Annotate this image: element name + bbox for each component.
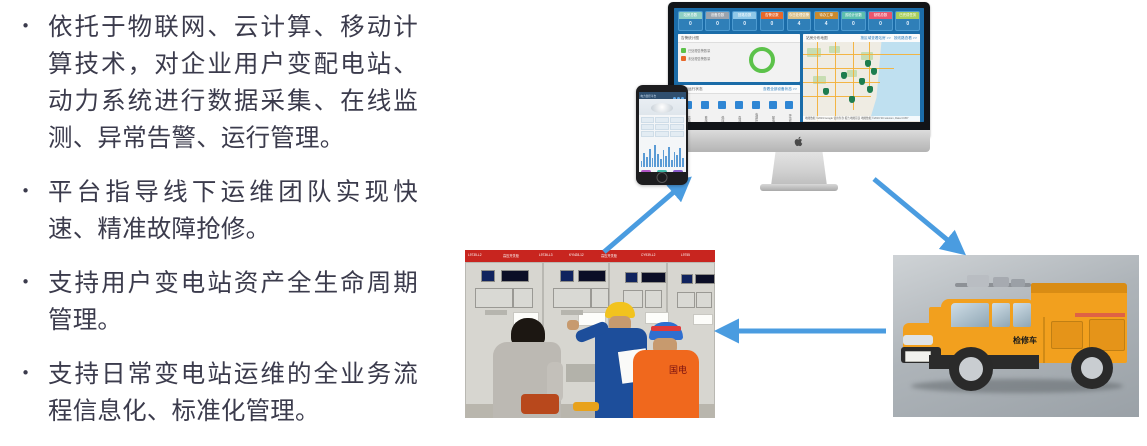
stat-card-label: 告警总数	[761, 12, 784, 19]
cabinet-label: KYN28-12	[569, 253, 584, 257]
phone-app-title: 电力监控平台	[641, 94, 657, 98]
panel-title: 设备运行状态 查看全部设备状态 >>	[678, 85, 800, 94]
box-seam	[1043, 317, 1045, 363]
uniform-back-text: 国电	[669, 366, 691, 388]
chart-legend: 已处理告警数量 未处理告警数量	[681, 48, 710, 64]
device-icon	[769, 101, 777, 109]
desktop-monitor: 站房总数0设备总数0回路总数0告警总数0今日处理告警4待办工单4巡检计划数0缺陷…	[668, 2, 930, 202]
monitor-stand-neck	[771, 152, 827, 186]
map-attribution: 地图数据 ©2019 Google 使用条款 报告地图错误 地图数据 ©2019…	[803, 116, 920, 121]
switch-bank	[561, 310, 583, 315]
phone-data-table	[639, 115, 686, 140]
map-canvas[interactable]: 地图数据 ©2019 Google 使用条款 报告地图错误 地图数据 ©2019…	[803, 42, 920, 121]
stat-card-row: 站房总数0设备总数0回路总数0告警总数0今日处理告警4待办工单4巡检计划数0缺陷…	[678, 11, 920, 31]
station-map-panel[interactable]: 站房分布地图 按线路查看 >> 按区域查看站房 >>	[803, 34, 920, 122]
device-status-item[interactable]: 直流屏	[733, 101, 744, 122]
reflective-stripe	[1075, 313, 1125, 317]
stat-card-value: 0	[842, 19, 865, 30]
protection-relay-panel	[677, 292, 695, 308]
table-cell	[655, 131, 669, 137]
cabinet-vent	[566, 364, 596, 382]
arrow-monitor-to-truck	[870, 175, 966, 257]
phone-bar	[641, 161, 643, 167]
map-road	[803, 54, 920, 55]
cabinet-label: L9736-L3	[539, 253, 552, 257]
stat-card-value: 0	[896, 19, 919, 30]
bullet-marker: •	[0, 173, 30, 210]
legend-item: 已处理告警数量	[681, 48, 710, 53]
led-readout	[578, 270, 606, 282]
donut-chart-area: 已处理告警数量 未处理告警数量	[678, 43, 800, 82]
table-cell	[670, 117, 684, 123]
bullet-text: 依托于物联网、云计算、移动计算技术，对企业用户变配电站、动力系统进行数据采集、在…	[48, 8, 418, 156]
device-icon	[718, 101, 726, 109]
rear-hubcap	[1081, 357, 1103, 379]
map-road	[803, 96, 871, 97]
photo-substation-operations: L9735-L2 高压开关柜 L9736-L3 KYN28-12 高压开关柜 C…	[465, 250, 715, 418]
phone-bar	[679, 148, 681, 167]
bullet-marker: •	[0, 264, 30, 301]
phone-bar	[676, 155, 678, 167]
device-status-item[interactable]: 变压器	[700, 101, 711, 122]
digital-meter-display	[681, 274, 693, 284]
device-icon	[735, 101, 743, 109]
phone-bar	[671, 160, 673, 167]
app-tile-1[interactable]	[641, 170, 651, 172]
switch-bank	[485, 310, 507, 315]
map-marker-station[interactable]	[865, 60, 871, 67]
panel-title-text: 站房分布地图	[806, 36, 828, 40]
phone-gauge-widget	[639, 99, 686, 115]
table-cell	[641, 124, 655, 130]
control-module	[696, 292, 712, 308]
phone-bar	[682, 158, 684, 167]
protection-relay-panel	[553, 288, 591, 308]
tool-case	[573, 402, 599, 411]
map-road	[869, 42, 870, 93]
map-marker-station[interactable]	[849, 96, 855, 103]
vehicle-door-text: 检修车	[1013, 335, 1037, 346]
front-hubcap	[959, 357, 983, 381]
headlight	[903, 335, 933, 345]
digital-meter-display	[560, 270, 574, 282]
stat-card-label: 回路总数	[733, 12, 756, 19]
roof-equipment	[993, 277, 1009, 287]
map-marker-station[interactable]	[867, 86, 873, 93]
license-plate	[905, 351, 931, 362]
stat-card-label: 设备总数	[706, 12, 729, 19]
storage-compartment	[1051, 321, 1083, 349]
led-readout	[501, 270, 529, 282]
stat-card[interactable]: 待办工单4	[814, 11, 839, 31]
stat-card-value: 0	[733, 19, 756, 30]
arrow-substation-to-monitor	[600, 178, 690, 256]
legend-item: 未处理告警数量	[681, 56, 710, 61]
control-module	[513, 288, 533, 308]
cabinet-label: L9735-L2	[468, 253, 481, 257]
phone-bar	[665, 156, 667, 167]
stat-card[interactable]: 缺陷总数0	[868, 11, 893, 31]
dashboard: 站房总数0设备总数0回路总数0告警总数0今日处理告警4待办工单4巡检计划数0缺陷…	[674, 8, 924, 122]
list-item: • 平台指导线下运维团队实现快速、精准故障抢修。	[0, 173, 455, 247]
hand	[567, 320, 579, 330]
app-tile-3[interactable]	[673, 170, 683, 172]
bullet-text: 支持用户变电站资产全生命周期管理。	[48, 264, 418, 338]
phone-bar	[674, 152, 676, 167]
bullet-marker: •	[0, 355, 30, 392]
device-icon	[785, 101, 793, 109]
map-marker-station[interactable]	[859, 78, 865, 85]
phone-bar	[652, 158, 654, 167]
protection-relay-panel	[475, 288, 513, 308]
device-label: 环境监测	[788, 110, 792, 122]
legend-label: 已处理告警数量	[688, 48, 710, 53]
map-marker-station[interactable]	[871, 68, 877, 75]
list-item: • 支持用户变电站资产全生命周期管理。	[0, 264, 455, 338]
roof-equipment	[967, 275, 989, 287]
digital-meter-display	[481, 270, 495, 282]
phone-bar	[654, 145, 656, 167]
device-status-item[interactable]: 配电箱	[767, 101, 778, 122]
led-readout	[695, 274, 715, 284]
stat-card-value: 4	[788, 19, 811, 30]
table-cell	[670, 131, 684, 137]
stat-card-label: 巡检计划数	[842, 12, 865, 19]
device-icon	[701, 101, 709, 109]
left-panel-column: 告警统计图 已处理告警数量	[678, 34, 800, 122]
stat-card-label: 缺陷总数	[869, 12, 892, 19]
list-item: • 依托于物联网、云计算、移动计算技术，对企业用户变配电站、动力系统进行数据采集…	[0, 8, 455, 156]
map-road	[817, 42, 818, 121]
table-cell	[641, 117, 655, 123]
stat-card[interactable]: 回路总数0	[732, 11, 757, 31]
stat-card-label: 已完成任务	[896, 12, 919, 19]
mobile-phone: 电力监控平台	[636, 85, 688, 185]
device-status-item[interactable]: 低压柜	[717, 101, 728, 122]
stat-card-value: 0	[761, 19, 784, 30]
device-status-panel: 设备运行状态 查看全部设备状态 >> 高压柜变压器低压柜直流屏电容补偿柜配电箱环…	[678, 85, 800, 122]
architecture-diagram: 站房总数0设备总数0回路总数0告警总数0今日处理告警4待办工单4巡检计划数0缺陷…	[450, 0, 1147, 437]
stat-card[interactable]: 已完成任务0	[895, 11, 920, 31]
cabinet-label: 高压开关柜	[503, 253, 519, 258]
device-status-item[interactable]: 电容补偿柜	[750, 101, 761, 122]
monitor-stand-base	[760, 184, 838, 191]
map-green-area	[847, 70, 857, 77]
gauge-dial	[651, 103, 673, 113]
bullet-text: 支持日常变电站运维的全业务流程信息化、标准化管理。	[48, 355, 418, 429]
legend-swatch-handled	[681, 48, 686, 53]
tool-bag	[521, 394, 559, 414]
device-icon-row: 高压柜变压器低压柜直流屏电容补偿柜配电箱环境监测	[678, 94, 800, 122]
photo-maintenance-truck: 检修车	[893, 255, 1139, 417]
table-cell	[670, 124, 684, 130]
phone-bar	[657, 154, 659, 167]
worker-orange-uniform: 国电	[633, 322, 699, 418]
bullet-list: • 依托于物联网、云计算、移动计算技术，对企业用户变配电站、动力系统进行数据采集…	[0, 8, 455, 446]
table-row	[641, 117, 684, 123]
rear-side-window	[1013, 303, 1031, 327]
device-label: 变压器	[703, 110, 707, 122]
donut-ring	[749, 47, 775, 73]
stat-card[interactable]: 设备总数0	[705, 11, 730, 31]
map-road	[835, 42, 836, 121]
device-status-item[interactable]: 环境监测	[784, 101, 795, 122]
device-icon	[752, 101, 760, 109]
map-marker-station[interactable]	[823, 88, 829, 95]
device-label: 低压柜	[720, 110, 724, 122]
phone-bar	[643, 153, 645, 167]
stat-card-label: 待办工单	[815, 12, 838, 19]
bullet-text: 平台指导线下运维团队实现快速、精准故障抢修。	[48, 173, 418, 247]
windshield	[951, 303, 989, 327]
legend-swatch-unhandled	[681, 56, 686, 61]
digital-meter-display	[625, 272, 638, 283]
phone-bar	[649, 149, 651, 167]
device-label: 配电箱	[771, 110, 775, 122]
phone-bar-chart	[639, 140, 686, 168]
phone-screen: 电力监控平台	[639, 92, 686, 172]
phone-bar	[668, 147, 670, 167]
stat-card-label: 站房总数	[679, 12, 702, 19]
device-label: 电容补偿柜	[754, 110, 758, 122]
table-row	[641, 131, 684, 137]
map-green-area	[807, 48, 821, 57]
stat-card[interactable]: 巡检计划数0	[841, 11, 866, 31]
utility-box-roof	[1031, 283, 1127, 293]
stat-card[interactable]: 站房总数0	[678, 11, 703, 31]
phone-home-button[interactable]	[657, 172, 668, 183]
bullet-marker: •	[0, 8, 30, 45]
arrow-truck-to-substation	[718, 322, 890, 340]
panel-more-link[interactable]: 查看全部设备状态 >>	[763, 85, 800, 93]
phone-app-header: 电力监控平台	[639, 92, 686, 99]
legend-label: 未处理告警数量	[688, 56, 710, 61]
stat-card[interactable]: 告警总数0	[760, 11, 785, 31]
device-label: 直流屏	[737, 110, 741, 122]
helmet-stripe	[651, 326, 681, 331]
slide-canvas: • 依托于物联网、云计算、移动计算技术，对企业用户变配电站、动力系统进行数据采集…	[0, 0, 1147, 437]
phone-bar	[660, 159, 662, 167]
apple-logo-icon	[795, 136, 804, 147]
stat-card-value: 0	[679, 19, 702, 30]
table-cell	[655, 124, 669, 130]
table-row	[641, 124, 684, 130]
stat-card[interactable]: 今日处理告警4	[787, 11, 812, 31]
phone-bar	[663, 150, 665, 167]
phone-bar	[646, 157, 648, 167]
front-side-window	[992, 303, 1010, 327]
alarm-statistics-panel: 告警统计图 已处理告警数量	[678, 34, 800, 82]
led-readout	[641, 272, 666, 283]
dashboard-panels: 告警统计图 已处理告警数量	[678, 34, 920, 122]
stat-card-value: 0	[869, 19, 892, 30]
monitor-screen: 站房总数0设备总数0回路总数0告警总数0今日处理告警4待办工单4巡检计划数0缺陷…	[674, 8, 924, 122]
table-cell	[641, 131, 655, 137]
roof-equipment	[1011, 279, 1025, 287]
stat-card-value: 0	[706, 19, 729, 30]
stat-card-label: 今日处理告警	[788, 12, 811, 19]
monitor-bezel: 站房总数0设备总数0回路总数0告警总数0今日处理告警4待办工单4巡检计划数0缺陷…	[668, 2, 930, 137]
map-link-area[interactable]: 按区域查看站房 >>	[860, 34, 893, 42]
list-item: • 支持日常变电站运维的全业务流程信息化、标准化管理。	[0, 355, 455, 429]
map-marker-station[interactable]	[841, 72, 847, 79]
map-link-line[interactable]: 按线路查看 >>	[894, 34, 920, 42]
table-cell	[655, 117, 669, 123]
panel-title: 告警统计图	[678, 34, 800, 43]
stat-card-value: 4	[815, 19, 838, 30]
